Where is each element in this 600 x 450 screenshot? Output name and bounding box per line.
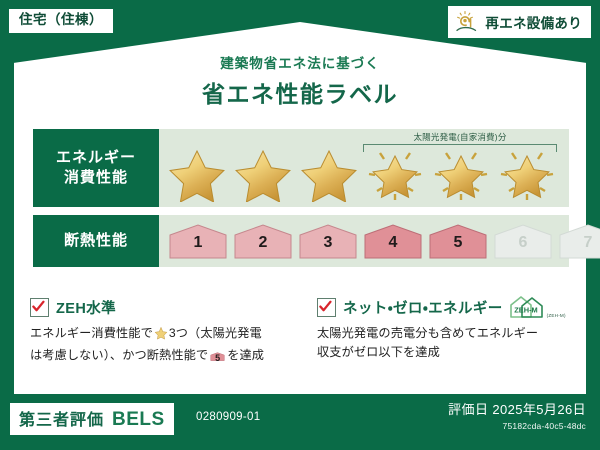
metric-rows: エネルギー 消費性能 太陽光発電(自家消費)分 (33, 129, 569, 275)
zehm-house-icon: ZEH-M (508, 295, 546, 319)
star-icon (231, 144, 295, 202)
insulation-level-badge: 3 (297, 222, 359, 260)
zeh-criterion: ZEH水準 エネルギー消費性能で3つ（太陽光発電 は考慮しない）、かつ断熱性能で… (30, 297, 302, 368)
evaluation-date-value: 2025年5月26日 (492, 402, 586, 417)
insulation-level-badge: 4 (362, 222, 424, 260)
energy-row-body: 太陽光発電(自家消費)分 (159, 129, 569, 207)
insulation-level-badge: 2 (232, 222, 294, 260)
bels-japanese-label: 第三者評価 (19, 406, 104, 430)
energy-performance-row: エネルギー 消費性能 太陽光発電(自家消費)分 (33, 129, 569, 207)
footer-bar: 第三者評価 BELS 0280909-01 評価日 2025年5月26日 751… (0, 394, 600, 450)
star-solar-icon (429, 144, 493, 202)
evaluation-date: 評価日 2025年5月26日 (448, 402, 586, 418)
insulation-level-number: 3 (297, 235, 359, 251)
insulation-level-number: 4 (362, 235, 424, 251)
insulation-level-scale: 1 2 3 4 5 (159, 222, 600, 260)
evaluation-info: 評価日 2025年5月26日 75182cda-40c5-48dc (448, 402, 586, 431)
insulation-level-number: 6 (492, 235, 554, 251)
criteria-section: ZEH水準 エネルギー消費性能で3つ（太陽光発電 は考慮しない）、かつ断熱性能で… (30, 297, 575, 368)
bels-logo-text: BELS (112, 409, 165, 431)
insulation-level-number: 5 (427, 235, 489, 251)
evaluation-hash: 75182cda-40c5-48dc (448, 421, 586, 431)
insulation-row-body: 1 2 3 4 5 (159, 215, 600, 267)
insulation-performance-row: 断熱性能 1 2 3 (33, 215, 569, 267)
zeh-criterion-header: ZEH水準 (30, 297, 302, 317)
zeh-criterion-description: エネルギー消費性能で3つ（太陽光発電 は考慮しない）、かつ断熱性能で5を達成 (30, 324, 302, 368)
bels-chip: 第三者評価 BELS (10, 403, 174, 435)
net-zero-criterion: ネット・ゼロ・エネルギー ZEH-M (ZEH-M) 太陽光発電の売電分も含めて… (302, 297, 574, 368)
net-zero-checkbox[interactable] (317, 298, 336, 317)
bels-certificate-id: 0280909-01 (196, 411, 260, 423)
net-zero-desc-line1: 太陽光発電の売電分も含めてエネルギー (317, 326, 538, 340)
zeh-desc-part1: エネルギー消費性能で (30, 326, 153, 340)
energy-row-label-line1: エネルギー (56, 148, 136, 168)
star-solar-icon (363, 144, 427, 202)
evaluation-date-label: 評価日 (448, 402, 488, 417)
zeh-desc-part2: は考慮しない）、かつ断熱性能で (30, 348, 208, 362)
check-icon (32, 300, 45, 313)
zehm-logo-caption: (ZEH-M) (547, 313, 566, 319)
zeh-desc-star-count: 3つ（太陽光発電 (169, 326, 262, 340)
insulation-level-number: 7 (557, 235, 600, 251)
zeh-desc-part3: を達成 (227, 348, 264, 362)
energy-star-rating (159, 144, 559, 202)
insulation-level-number: 2 (232, 235, 294, 251)
inline-house-number: 5 (210, 354, 225, 363)
zehm-logo: ZEH-M (ZEH-M) (508, 295, 566, 319)
zeh-checkbox[interactable] (30, 298, 49, 317)
insulation-level-badge: 1 (167, 222, 229, 260)
star-icon (165, 144, 229, 202)
energy-row-label-line2: 消費性能 (64, 168, 128, 188)
renewable-badge-label: 再エネ設備あり (485, 12, 582, 32)
net-zero-criterion-title: ネット・ゼロ・エネルギー (343, 297, 503, 318)
building-category-chip: 住宅（住棟） (9, 9, 113, 33)
insulation-row-label-line1: 断熱性能 (64, 231, 128, 251)
inline-house-badge: 5 (210, 350, 225, 369)
renewable-equipment-badge: 再エネ設備あり (448, 6, 591, 38)
insulation-level-badge: 6 (492, 222, 554, 260)
net-zero-desc-line2: 収支がゼロ以下を達成 (317, 345, 440, 359)
building-category-label: 住宅（住棟） (19, 12, 103, 27)
solar-bracket-label: 太陽光発電(自家消費)分 (363, 133, 557, 142)
star-solar-icon (495, 144, 559, 202)
net-zero-criterion-description: 太陽光発電の売電分も含めてエネルギー 収支がゼロ以下を達成 (317, 324, 574, 361)
check-icon (319, 300, 332, 313)
sun-icon (454, 10, 480, 34)
inline-star-icon (154, 326, 168, 346)
star-icon (297, 144, 361, 202)
title-subtitle: 建築物省エネ法に基づく (0, 52, 600, 72)
insulation-row-label: 断熱性能 (33, 215, 159, 267)
svg-text:ZEH-M: ZEH-M (514, 306, 537, 315)
insulation-level-number: 1 (167, 235, 229, 251)
title-main: 省エネ性能ラベル (0, 75, 600, 109)
insulation-level-badge: 7 (557, 222, 600, 260)
energy-performance-label: 住宅（住棟） 再エネ設備あり 建築物省エネ法に基づく 省エネ性能ラベル (0, 0, 600, 450)
title-block: 建築物省エネ法に基づく 省エネ性能ラベル (0, 52, 600, 109)
insulation-level-badge: 5 (427, 222, 489, 260)
zeh-criterion-title: ZEH水準 (56, 297, 116, 318)
energy-row-label: エネルギー 消費性能 (33, 129, 159, 207)
net-zero-criterion-header: ネット・ゼロ・エネルギー ZEH-M (ZEH-M) (317, 297, 574, 317)
